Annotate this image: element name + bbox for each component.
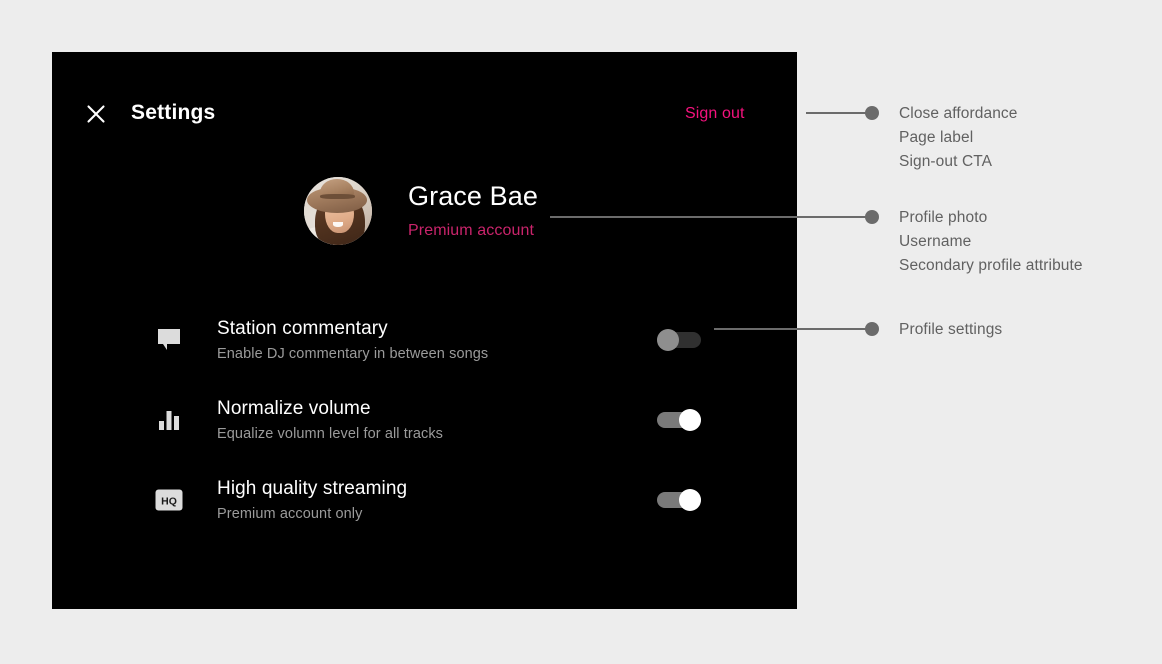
setting-row-station-commentary[interactable]: Station commentary Enable DJ commentary … [52,300,797,380]
annotation-leader-line-1 [806,112,868,114]
equalizer-bars-icon [149,400,189,440]
settings-rows: Station commentary Enable DJ commentary … [52,300,797,540]
setting-subtitle: Enable DJ commentary in between songs [217,344,488,365]
setting-title: Station commentary [217,316,488,341]
annotation-group-header: Close affordance Page label Sign-out CTA [899,102,1018,174]
avatar[interactable] [304,177,372,245]
toggle-knob [657,329,679,351]
sign-out-button[interactable]: Sign out [685,102,745,126]
setting-row-high-quality-streaming[interactable]: HQ High quality streaming Premium accoun… [52,460,797,540]
comment-bubble-icon [149,320,189,360]
setting-row-text: High quality streaming Premium account o… [217,476,407,525]
annotation-line: Profile photo [899,206,1083,230]
settings-panel: Settings Sign out Grace Bae Premium acco… [52,52,797,609]
avatar-hat-band [320,194,355,199]
panel-header: Settings Sign out [52,52,797,172]
annotation-dot-1 [865,106,879,120]
profile-secondary-attribute: Premium account [408,219,538,243]
annotation-group-profile: Profile photo Username Secondary profile… [899,206,1083,278]
profile-block: Grace Bae Premium account [304,177,538,245]
toggle-knob [679,409,701,431]
annotation-leader-line-2 [550,216,868,218]
annotation-line: Profile settings [899,318,1002,342]
annotation-dot-2 [865,210,879,224]
setting-row-text: Normalize volume Equalize volumn level f… [217,396,443,445]
setting-subtitle: Premium account only [217,504,407,525]
profile-text: Grace Bae Premium account [408,179,538,243]
annotation-line: Close affordance [899,102,1018,126]
setting-title: Normalize volume [217,396,443,421]
annotation-line: Page label [899,126,1018,150]
setting-row-normalize-volume[interactable]: Normalize volume Equalize volumn level f… [52,380,797,460]
avatar-smile [333,222,343,227]
annotation-dot-3 [865,322,879,336]
annotation-group-settings: Profile settings [899,318,1002,342]
close-icon[interactable] [79,97,113,131]
page-title: Settings [131,98,215,128]
svg-text:HQ: HQ [161,495,177,507]
annotation-line: Sign-out CTA [899,150,1018,174]
setting-title: High quality streaming [217,476,407,501]
toggle-knob [679,489,701,511]
annotation-line: Secondary profile attribute [899,254,1083,278]
setting-row-text: Station commentary Enable DJ commentary … [217,316,488,365]
setting-subtitle: Equalize volumn level for all tracks [217,424,443,445]
toggle-high-quality-streaming[interactable] [657,490,701,510]
toggle-station-commentary[interactable] [657,330,701,350]
hq-badge-icon: HQ [149,480,189,520]
toggle-normalize-volume[interactable] [657,410,701,430]
annotation-leader-line-3 [714,328,868,330]
annotation-line: Username [899,230,1083,254]
profile-username: Grace Bae [408,179,538,213]
